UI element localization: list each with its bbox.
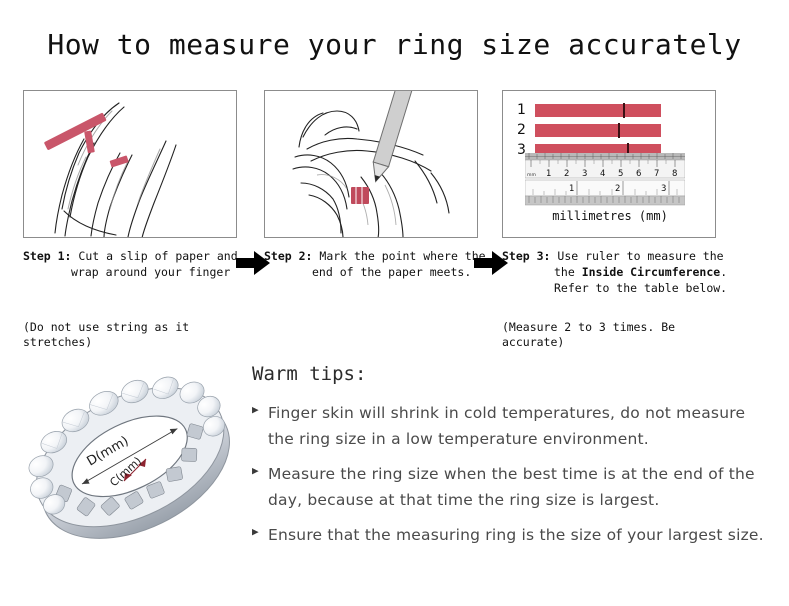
warm-tips-section: Warm tips: ▶ Finger skin will shrink in …	[252, 362, 772, 557]
step-3-line2-tail: .	[720, 265, 727, 279]
step-3-line2: the	[554, 265, 582, 279]
step-1-line1: Cut a slip of paper and	[78, 249, 237, 263]
strip-number: 2	[517, 123, 531, 137]
triangle-right-icon: ▶	[252, 461, 268, 513]
step-1-note: (Do not use string as it stretches)	[23, 320, 263, 350]
inside-circumference-emphasis: Inside Circumference	[582, 265, 720, 279]
paper-strip	[535, 124, 661, 137]
step-2-figure	[264, 90, 478, 238]
step-3-line1: Use ruler to measure the	[557, 249, 723, 263]
step-3-note: (Measure 2 to 3 times. Be accurate)	[502, 320, 742, 350]
tip-text: Finger skin will shrink in cold temperat…	[268, 400, 772, 452]
steps-row: Step 1: Cut a slip of paper and wrap aro…	[0, 90, 789, 335]
step-2-column: Step 2: Mark the point where the end of …	[264, 90, 480, 238]
step-3-caption: Step 3: Use ruler to measure the the Ins…	[502, 248, 734, 296]
strip-mark	[618, 123, 620, 138]
tip-text: Measure the ring size when the best time…	[268, 461, 772, 513]
hand-with-paper-slip-icon	[24, 91, 237, 238]
step-3-line3: Refer to the table below.	[502, 280, 734, 296]
step-2-line1: Mark the point where the	[319, 249, 485, 263]
step-3-label: Step 3:	[502, 249, 550, 263]
paper-strip-row: 1	[517, 103, 661, 117]
strip-number: 1	[517, 103, 531, 117]
svg-text:1: 1	[546, 169, 551, 179]
page-title: How to measure your ring size accurately	[0, 28, 789, 61]
strip-mark	[623, 103, 625, 118]
step-3-figure: 1 2 3	[502, 90, 716, 238]
svg-text:7: 7	[654, 169, 659, 179]
tip-text: Ensure that the measuring ring is the si…	[268, 522, 772, 548]
svg-text:3: 3	[582, 169, 587, 179]
svg-text:3: 3	[661, 184, 666, 194]
step-2-caption: Step 2: Mark the point where the end of …	[264, 248, 496, 280]
svg-text:1: 1	[569, 184, 574, 194]
triangle-right-icon: ▶	[252, 522, 268, 548]
warm-tips-heading: Warm tips:	[252, 362, 772, 386]
ruler-icon: 12 34 56 78 mm 123	[525, 153, 685, 207]
step-1-label: Step 1:	[23, 249, 71, 263]
step-3-column: 1 2 3	[502, 90, 718, 238]
triangle-right-icon: ▶	[252, 400, 268, 452]
step-1-caption: Step 1: Cut a slip of paper and wrap aro…	[23, 248, 255, 280]
step-2-line2: end of the paper meets.	[264, 264, 496, 280]
svg-text:mm: mm	[527, 173, 536, 178]
paper-strip	[535, 104, 661, 117]
tip-item: ▶ Ensure that the measuring ring is the …	[252, 522, 772, 548]
svg-text:2: 2	[615, 184, 620, 194]
svg-text:8: 8	[672, 169, 677, 179]
paper-strip-row: 2	[517, 123, 661, 137]
svg-text:5: 5	[618, 169, 623, 179]
tip-item: ▶ Measure the ring size when the best ti…	[252, 461, 772, 513]
step-1-column: Step 1: Cut a slip of paper and wrap aro…	[23, 90, 239, 238]
hand-marking-paper-with-pencil-icon	[265, 91, 478, 238]
svg-text:2: 2	[564, 169, 569, 179]
svg-text:4: 4	[600, 169, 605, 179]
step-1-figure	[23, 90, 237, 238]
unit-caption: millimetres (mm)	[503, 209, 716, 223]
step-1-line2: wrap around your finger	[23, 264, 255, 280]
ring-diagram: D(mm) C(mm)	[18, 352, 244, 566]
step-2-label: Step 2:	[264, 249, 312, 263]
tip-item: ▶ Finger skin will shrink in cold temper…	[252, 400, 772, 452]
svg-text:6: 6	[636, 169, 641, 179]
